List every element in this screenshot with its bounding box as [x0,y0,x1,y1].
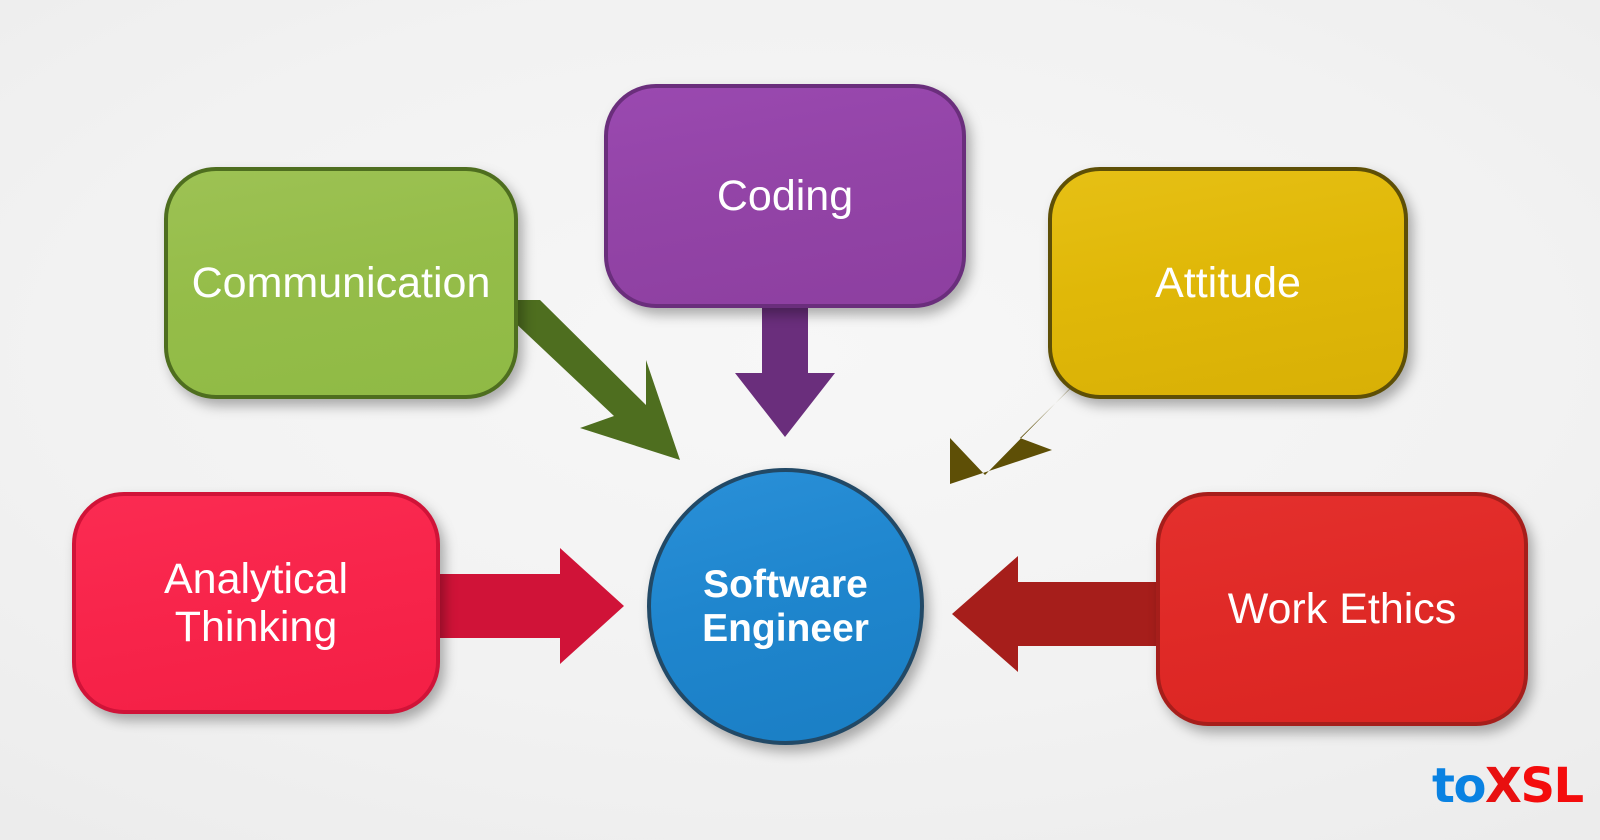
node-work-ethics-label: Work Ethics [1160,585,1524,633]
node-communication[interactable]: Communication [164,167,518,399]
diagram-canvas: Communication Coding Attitude Analytical… [0,0,1600,840]
node-work-ethics[interactable]: Work Ethics [1156,492,1528,726]
node-coding-label: Coding [608,172,962,220]
logo-text-to: to [1432,758,1485,814]
node-communication-label: Communication [168,259,514,307]
logo-text-sl: SL [1520,758,1582,814]
node-attitude[interactable]: Attitude [1048,167,1408,399]
node-analytical-thinking[interactable]: Analytical Thinking [72,492,440,714]
toxsl-logo[interactable]: toXSL [1432,762,1583,810]
node-coding[interactable]: Coding [604,84,966,308]
node-analytical-thinking-label: Analytical Thinking [76,555,436,651]
arrow-work-ethics-to-center [950,556,1170,676]
logo-text-x: X [1485,758,1521,814]
node-software-engineer-center[interactable]: Software Engineer [647,468,924,745]
node-software-engineer-label: Software Engineer [651,563,920,650]
node-attitude-label: Attitude [1052,259,1404,307]
arrow-analytical-thinking-to-center [412,548,627,668]
arrow-coding-to-center [735,285,845,440]
